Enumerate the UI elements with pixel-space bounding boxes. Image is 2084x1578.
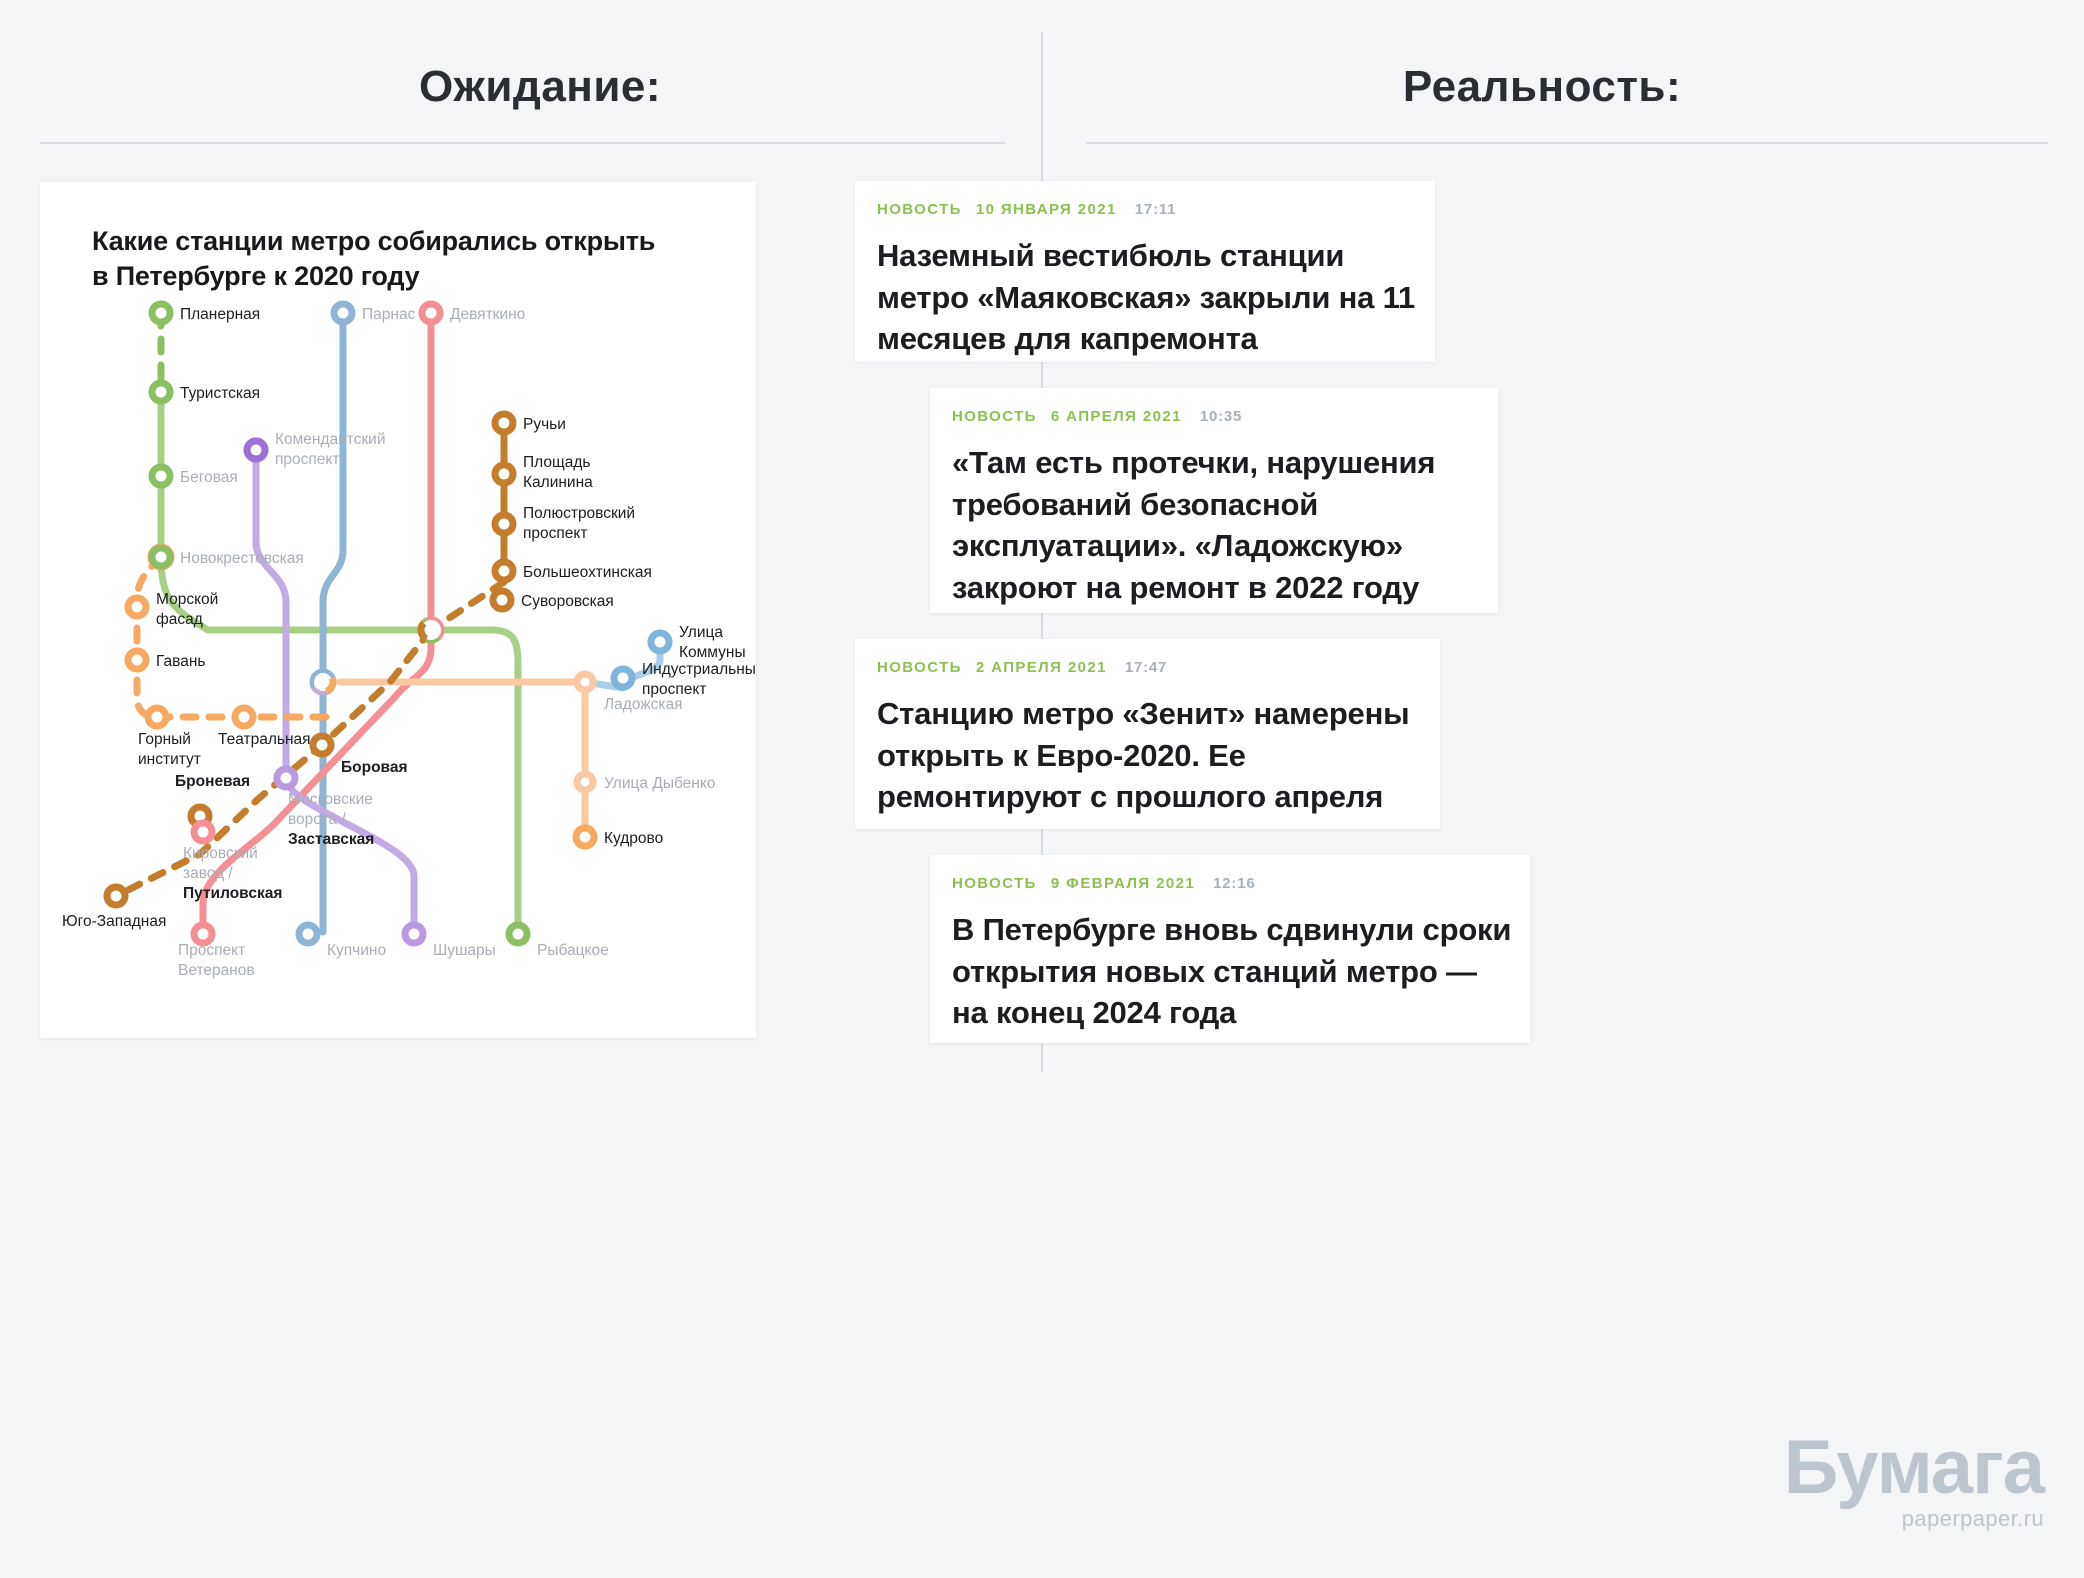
station-marker-devyatkino [422,304,440,322]
station-marker-komendantsky [247,441,265,459]
station-marker-suvorovskaya [493,591,511,609]
news-kicker: НОВОСТЬ [952,408,1037,425]
news-time: 10:35 [1200,408,1242,425]
station-label-rybatskoe: Рыбацкое [537,942,609,959]
station-marker-kudrovo [576,828,594,846]
news-headline[interactable]: «Там есть протечки, нарушения требований… [952,442,1482,608]
station-label-kirovsky-2: завод / [183,865,233,882]
station-label-kommuny-2: Коммуны [679,644,746,661]
station-label-polyustrovsky-1: Полюстровский [523,505,635,522]
heading-rule-right [1086,142,2048,144]
station-marker-moskovskie-vorota [277,769,295,787]
news-date: 9 ФЕВРАЛЯ 2021 [1051,875,1195,892]
station-marker-prospekt-veteranov [194,925,212,943]
station-label-bronevaya: Броневая [175,773,250,790]
station-marker-dybenko [577,774,593,790]
station-label-kudrovo: Кудрово [604,830,663,847]
news-card[interactable]: НОВОСТЬ6 АПРЕЛЯ 202110:35 «Там есть прот… [930,388,1498,613]
news-date: 6 АПРЕЛЯ 2021 [1051,408,1182,425]
station-marker-shushary [405,925,423,943]
station-label-parnas: Парнас [362,306,416,323]
brand-logo-url: paperpaper.ru [1784,1506,2044,1532]
metro-map-card: Какие станции метро собирались открыть в… [40,182,756,1038]
station-marker-kirovsky-zavod [194,823,212,841]
station-label-dybenko: Улица Дыбенко [604,775,715,792]
news-card[interactable]: НОВОСТЬ9 ФЕВРАЛЯ 202112:16 В Петербурге … [930,855,1530,1043]
station-marker-ulitsa-kommuny [651,633,669,651]
heading-expectation-label: Ожидание: [419,62,661,112]
station-label-veteranov-2: Ветеранов [178,962,255,979]
news-meta: НОВОСТЬ6 АПРЕЛЯ 202110:35 [952,408,1242,425]
station-marker-begovaya [152,467,170,485]
station-marker-teatralnaya [235,708,253,726]
station-marker-borovaya [313,736,331,754]
station-marker-kupchino [299,925,317,943]
news-headline[interactable]: Наземный вестибюль станции метро «Маяков… [877,235,1422,360]
station-label-morskoy-2: фасад [156,611,203,628]
station-label-ladozhskaya: Ладожская [604,696,683,713]
station-label-veteranov-1: Проспект [178,942,245,959]
news-time: 17:47 [1125,659,1167,676]
station-marker-bolsheohtinskaya [495,562,513,580]
station-label-suvorovskaya: Суворовская [521,593,614,610]
station-marker-rybatskoe [509,925,527,943]
news-headline[interactable]: Станцию метро «Зенит» намерены открыть к… [877,693,1422,818]
station-label-gorny-1: Горный [138,731,191,748]
news-time: 17:11 [1135,201,1177,218]
station-label-gorny-2: институт [138,751,201,768]
metro-map-diagram: .ln{fill:none;stroke-linecap:round;strok… [40,182,756,1038]
news-headline[interactable]: В Петербурге вновь сдвинули сроки открыт… [952,909,1512,1034]
station-label-ruchi: Ручьи [523,416,566,433]
station-marker-parnas [334,304,352,322]
station-marker-novokrestovskaya [152,548,170,566]
news-kicker: НОВОСТЬ [877,659,962,676]
station-marker-morskoy-fasad [128,598,146,616]
heading-reality: Реальность: [1042,0,2042,174]
station-label-kalinina-1: Площадь [523,454,590,471]
station-label-kalinina-2: Калинина [523,474,593,491]
station-marker-gavan [128,651,146,669]
heading-rule-left [40,142,1005,144]
station-label-begovaya: Беговая [180,469,238,486]
station-label-komendantsky-1: Комендантский [275,431,385,448]
station-label-planernaya: Планерная [180,306,260,323]
station-marker-polyustrovsky [495,515,513,533]
news-kicker: НОВОСТЬ [877,201,962,218]
heading-reality-label: Реальность: [1403,62,1681,112]
station-label-shushary: Шушары [433,942,496,959]
station-marker-gorny-institut [148,708,166,726]
station-label-kirovsky-3: Путиловская [183,885,282,902]
news-time: 12:16 [1213,875,1255,892]
station-marker-planernaya [152,304,170,322]
station-label-industrialny-1: Индустриальный [642,661,756,678]
station-marker-ruchi [495,414,513,432]
station-label-kupchino: Купчино [327,942,386,959]
brand-logo-wordmark: Бумага [1784,1432,2044,1504]
station-label-novokrestovskaya: Новокрестовская [180,550,304,567]
heading-expectation: Ожидание: [40,0,1040,174]
station-label-moskvorota-3: Заставская [288,831,374,848]
news-meta: НОВОСТЬ2 АПРЕЛЯ 202117:47 [877,659,1167,676]
station-marker-yugo-zapadnaya [107,887,125,905]
station-label-kommuny-1: Улица [679,624,723,641]
news-card[interactable]: НОВОСТЬ2 АПРЕЛЯ 202117:47 Станцию метро … [855,639,1440,829]
station-marker-ladozhskaya [577,674,593,690]
news-date: 10 ЯНВАРЯ 2021 [976,201,1117,218]
station-label-bolsheohtinskaya: Большеохтинская [523,564,652,581]
station-label-kirovsky-1: Кировский [183,845,258,862]
station-marker-industrialny [614,669,632,687]
station-label-borovaya: Боровая [341,759,408,776]
station-label-moskvorota-1: Московские [288,791,373,808]
station-label-moskvorota-2: ворота / [288,811,346,828]
station-label-polyustrovsky-2: проспект [523,525,587,542]
station-label-gavan: Гавань [156,653,205,670]
station-marker-turistskaya [152,383,170,401]
station-label-devyatkino: Девяткино [450,306,525,323]
station-marker-ploshchad-kalinina [495,465,513,483]
station-label-morskoy-1: Морской [156,591,218,608]
news-meta: НОВОСТЬ9 ФЕВРАЛЯ 202112:16 [952,875,1256,892]
station-label-teatralnaya: Театральная [218,731,311,748]
brand-logo: Бумага paperpaper.ru [1784,1432,2044,1532]
news-meta: НОВОСТЬ10 ЯНВАРЯ 202117:11 [877,201,1176,218]
news-kicker: НОВОСТЬ [952,875,1037,892]
station-label-yugo-zapadnaya: Юго-Западная [62,913,166,930]
news-card[interactable]: НОВОСТЬ10 ЯНВАРЯ 202117:11 Наземный вест… [855,181,1435,362]
infographic-page: Ожидание: Реальность: Какие станции метр… [0,0,2084,1578]
station-label-komendantsky-2: проспект [275,451,339,468]
news-date: 2 АПРЕЛЯ 2021 [976,659,1107,676]
station-label-turistskaya: Туристская [180,385,260,402]
